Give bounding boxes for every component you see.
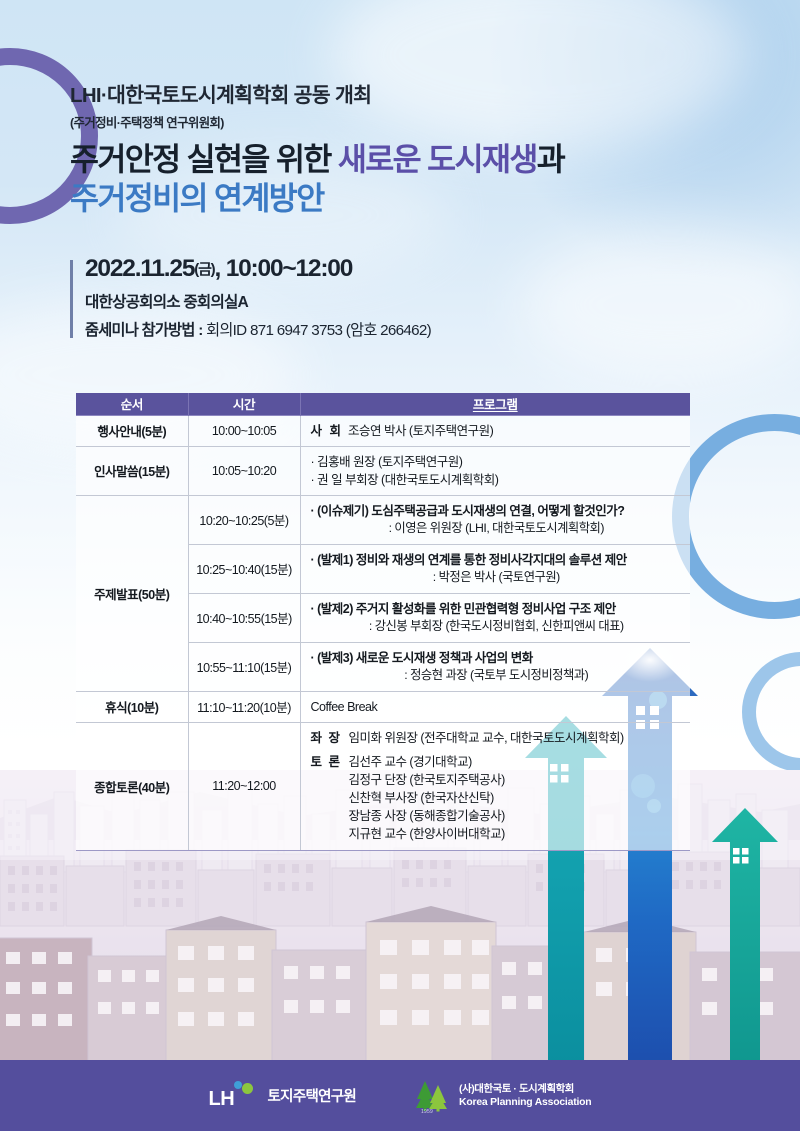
row-time: 10:20~10:25(5분)	[188, 495, 300, 544]
kpa-logo: 1959 (사)대한국토 · 도시계획학회 Korea Planning Ass…	[414, 1079, 591, 1113]
lh-wordmark: LH	[209, 1088, 235, 1111]
greeting-line: · 권 일 부회장 (대한국토도시계획학회)	[311, 471, 683, 489]
lh-institute-name: 토지주택연구원	[268, 1085, 356, 1106]
topic-title: · (이슈제기) 도심주택공급과 도시재생의 연결, 어떻게 할것인가?	[311, 504, 625, 518]
topic-speaker: : 이영은 위원장 (LHI, 대한국토도시계획학회)	[311, 520, 683, 538]
col-header-time: 시간	[188, 393, 300, 415]
program-table-body: 행사안내(5분) 10:00~10:05 사 회조승연 박사 (토지주택연구원)…	[76, 415, 690, 850]
row-time: 11:10~11:20(10분)	[188, 691, 300, 722]
title-part-plain: 주거안정 실현을 위한	[70, 141, 338, 177]
lh-blue-dot-icon	[234, 1081, 242, 1089]
kpa-mark-icon: 1959	[414, 1079, 450, 1113]
program-table: 순서 시간 프로그램 행사안내(5분) 10:00~10:05 사 회조승연 박…	[76, 393, 690, 851]
row-program: · (발제1) 정비와 재생의 연계를 통한 정비사각지대의 솔루션 제안 : …	[300, 544, 690, 593]
chair-value: 임미화 위원장 (전주대학교 교수, 대한국토도시계획학회)	[348, 729, 623, 747]
program-table-head: 순서 시간 프로그램	[76, 393, 690, 415]
kpa-trees-icon	[414, 1079, 450, 1113]
table-row: 행사안내(5분) 10:00~10:05 사 회조승연 박사 (토지주택연구원)	[76, 415, 690, 446]
topic-speaker: : 정승현 과장 (국토부 도시정비정책과)	[311, 667, 683, 685]
table-header-row: 순서 시간 프로그램	[76, 393, 690, 415]
kpa-founded-year: 1959	[421, 1109, 433, 1115]
poster-header: LHI·대한국토도시계획학회 공동 개최 (주거정비·주택정책 연구위원회) 주…	[70, 84, 760, 219]
table-row: 주제발표(50분) 10:20~10:25(5분) · (이슈제기) 도심주택공…	[76, 495, 690, 544]
row-program: · (이슈제기) 도심주택공급과 도시재생의 연결, 어떻게 할것인가? : 이…	[300, 495, 690, 544]
poster-footer: LH 토지주택연구원 1959 (사)대한국토 · 도시계획학회 Korea P…	[0, 1060, 800, 1131]
table-row: 인사말씀(15분) 10:05~10:20 · 김홍배 원장 (토지주택연구원)…	[76, 446, 690, 495]
mc-label: 사 회	[311, 424, 343, 438]
zoom-meeting-id: 회의ID 871 6947 3753 (암호 266462)	[206, 322, 431, 339]
greeting-line: · 김홍배 원장 (토지주택연구원)	[311, 453, 683, 471]
topic-title: · (발제1) 정비와 재생의 연계를 통한 정비사각지대의 솔루션 제안	[311, 553, 627, 567]
row-order: 주제발표(50분)	[76, 495, 188, 691]
kpa-name-block: (사)대한국토 · 도시계획학회 Korea Planning Associat…	[459, 1083, 591, 1109]
topic-speaker: : 강신봉 부회장 (한국도시정비협회, 신한피앤씨 대표)	[311, 618, 683, 636]
row-time: 10:55~11:10(15분)	[188, 642, 300, 691]
page-title: 주거안정 실현을 위한 새로운 도시재생과 주거정비의 연계방안	[70, 140, 760, 219]
list-item: 지규현 교수 (한양사이버대학교)	[348, 825, 504, 843]
event-time: 10:00~12:00	[226, 255, 352, 282]
title-part-suffix: 과	[537, 141, 564, 177]
date-separator: ,	[214, 255, 220, 282]
row-order: 종합토론(40분)	[76, 722, 188, 850]
title-line-2: 주거정비의 연계방안	[70, 179, 760, 219]
topic-title: · (발제2) 주거지 활성화를 위한 민관협력형 정비사업 구조 제안	[311, 602, 616, 616]
event-venue: 대한상공회의소 중회의실A	[85, 290, 431, 312]
panelist-list: 김선주 교수 (경기대학교) 김정구 단장 (한국토지주택공사) 신찬혁 부사장…	[348, 753, 504, 844]
row-time: 11:20~12:00	[188, 722, 300, 850]
topic-title: · (발제3) 새로운 도시재생 정책과 사업의 변화	[311, 651, 533, 665]
arrow-small-right-icon	[712, 808, 778, 1062]
row-program: · (발제3) 새로운 도시재생 정책과 사업의 변화 : 정승현 과장 (국토…	[300, 642, 690, 691]
row-order: 휴식(10분)	[76, 691, 188, 722]
row-program: Coffee Break	[300, 691, 690, 722]
list-item: 김정구 단장 (한국토지주택공사)	[348, 771, 504, 789]
col-header-order: 순서	[76, 393, 188, 415]
panel-label: 토 론	[311, 753, 342, 771]
lh-mark-icon: LH	[209, 1081, 259, 1111]
committee-name: (주거정비·주택정책 연구위원회)	[70, 113, 760, 131]
kpa-korean-name: (사)대한국토 · 도시계획학회	[459, 1083, 591, 1096]
row-program: · 김홍배 원장 (토지주택연구원) · 권 일 부회장 (대한국토도시계획학회…	[300, 446, 690, 495]
list-item: 장남종 사장 (동해종합기술공사)	[348, 807, 504, 825]
table-row: 휴식(10분) 11:10~11:20(10분) Coffee Break	[76, 691, 690, 722]
col-header-program: 프로그램	[300, 393, 690, 415]
event-datetime: 2022.11.25(금), 10:00~12:00	[85, 256, 431, 283]
topic-speaker: : 박정은 박사 (국토연구원)	[311, 569, 683, 587]
title-part-highlight: 새로운 도시재생	[338, 141, 537, 177]
row-time: 10:25~10:40(15분)	[188, 544, 300, 593]
panelists-row: 토 론 김선주 교수 (경기대학교) 김정구 단장 (한국토지주택공사) 신찬혁…	[311, 753, 683, 844]
row-order: 인사말씀(15분)	[76, 446, 188, 495]
event-date: 2022.11.25	[85, 255, 194, 282]
list-item: 김선주 교수 (경기대학교)	[348, 753, 504, 771]
row-program: 좌 장 임미화 위원장 (전주대학교 교수, 대한국토도시계획학회) 토 론 김…	[300, 722, 690, 850]
table-row: 종합토론(40분) 11:20~12:00 좌 장 임미화 위원장 (전주대학교…	[76, 722, 690, 850]
chair-label: 좌 장	[311, 729, 342, 747]
event-day-of-week: (금)	[194, 261, 214, 278]
host-organizations: LHI·대한국토도시계획학회 공동 개최	[70, 84, 760, 108]
kpa-english-name: Korea Planning Association	[459, 1096, 591, 1109]
lh-green-dot-icon	[242, 1083, 253, 1094]
title-line-1: 주거안정 실현을 위한 새로운 도시재생과	[70, 140, 760, 180]
mc-value: 조승연 박사 (토지주택연구원)	[348, 424, 493, 438]
row-time: 10:00~10:05	[188, 415, 300, 446]
program-table-wrapper: 순서 시간 프로그램 행사안내(5분) 10:00~10:05 사 회조승연 박…	[76, 393, 690, 851]
row-time: 10:40~10:55(15분)	[188, 593, 300, 642]
zoom-label: 줌세미나 참가방법 :	[85, 322, 206, 339]
row-order: 행사안내(5분)	[76, 415, 188, 446]
zoom-access-info: 줌세미나 참가방법 : 회의ID 871 6947 3753 (암호 26646…	[85, 318, 431, 340]
lh-logo: LH 토지주택연구원	[209, 1081, 356, 1111]
row-program: · (발제2) 주거지 활성화를 위한 민관협력형 정비사업 구조 제안 : 강…	[300, 593, 690, 642]
list-item: 신찬혁 부사장 (한국자산신탁)	[348, 789, 504, 807]
poster-canvas: LHI·대한국토도시계획학회 공동 개최 (주거정비·주택정책 연구위원회) 주…	[0, 0, 800, 1131]
event-info-block: 2022.11.25(금), 10:00~12:00 대한상공회의소 중회의실A…	[70, 256, 431, 340]
row-time: 10:05~10:20	[188, 446, 300, 495]
chair-row: 좌 장 임미화 위원장 (전주대학교 교수, 대한국토도시계획학회)	[311, 729, 683, 747]
row-program: 사 회조승연 박사 (토지주택연구원)	[300, 415, 690, 446]
